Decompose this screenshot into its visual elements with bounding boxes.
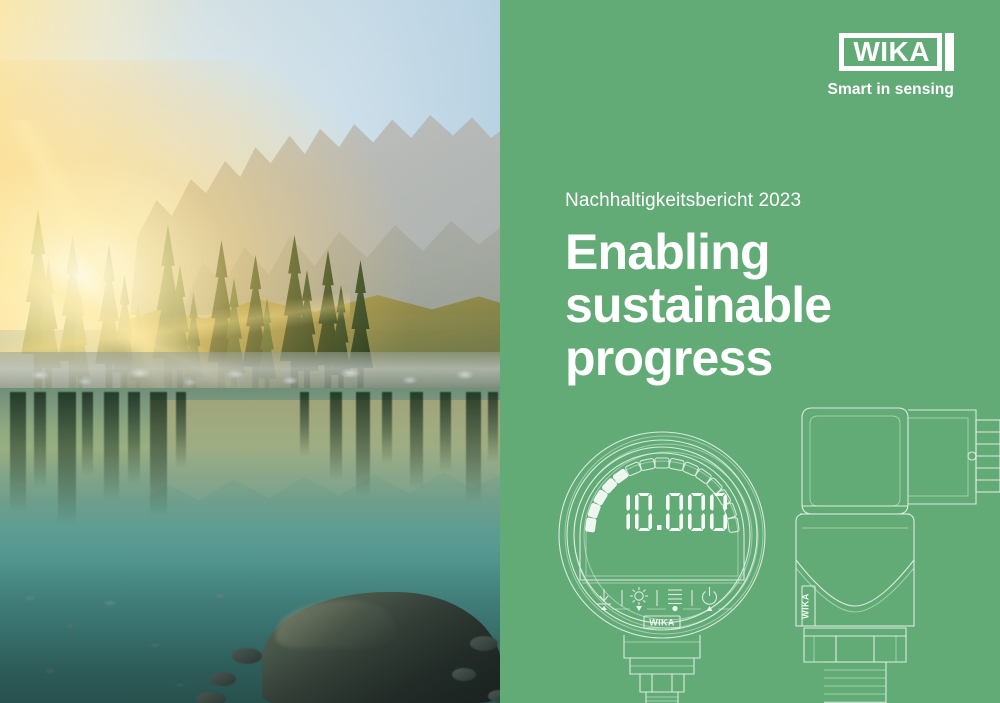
power-icon <box>703 587 717 604</box>
tree-reflection <box>488 392 498 462</box>
bargraph-segment-filled <box>587 502 601 519</box>
lcd-segment-a <box>713 493 725 496</box>
lcd-segment-a <box>691 493 703 496</box>
headline-line-3: progress <box>565 332 831 385</box>
tree-reflection <box>176 392 186 468</box>
lcd-segment-d <box>713 528 725 531</box>
wika-logo: WIKA Smart in sensing <box>828 33 955 99</box>
lcd-segment-d <box>638 528 650 531</box>
tree-reflection <box>382 392 392 464</box>
transmitter-wika-badge: WIKA <box>801 586 816 626</box>
lcd-segment-e <box>635 513 639 530</box>
tree-reflection <box>356 392 370 496</box>
cover-copy: Nachhaltigkeitsbericht 2023 Enabling sus… <box>565 190 831 385</box>
tree-reflection <box>466 392 481 502</box>
lcd-segment-c <box>648 513 652 530</box>
lcd-segment-b <box>626 494 630 511</box>
gauge-stem <box>624 635 700 703</box>
wika-tagline: Smart in sensing <box>828 81 955 99</box>
digital-pressure-gauge-illustration: WIKA <box>552 430 782 703</box>
report-kicker: Nachhaltigkeitsbericht 2023 <box>565 190 831 212</box>
bargraph-segment-empty <box>669 458 685 471</box>
lcd-digit <box>688 493 705 531</box>
tree-reflection <box>330 392 342 480</box>
wika-logo-mark: WIKA <box>828 33 955 71</box>
rock <box>232 648 262 664</box>
rock <box>210 672 236 686</box>
lcd-segment-c <box>679 513 683 530</box>
svg-text:WIKA: WIKA <box>649 618 675 628</box>
tree-reflection <box>300 392 309 456</box>
green-cover-panel: WIKA Smart in sensing Nachhaltigkeitsber… <box>500 0 1000 703</box>
hex-nut <box>804 628 906 662</box>
tree-reflection <box>104 392 119 500</box>
lcd-segment-b <box>679 494 683 511</box>
lcd-segment-e <box>710 513 714 530</box>
lcd-segment-f <box>710 494 714 511</box>
menu-icon <box>668 590 682 604</box>
rock <box>452 668 476 681</box>
headline-line-2: sustainable <box>565 279 831 332</box>
lcd-segment-f <box>666 494 670 511</box>
cover-headline: Enabling sustainable progress <box>565 226 831 385</box>
bargraph-segment-filled <box>585 517 597 532</box>
angled-connector <box>802 408 1000 514</box>
lcd-digit <box>626 494 630 530</box>
housing-body: WIKA <box>796 506 914 626</box>
cable-gland <box>968 420 1000 492</box>
wika-wordmark: WIKA <box>853 38 930 66</box>
gauge-lcd-display <box>626 493 727 531</box>
bargraph-segment-empty <box>655 458 669 468</box>
lcd-segment-b <box>701 494 705 511</box>
pressure-transmitter-illustration: WIKA <box>780 388 1000 703</box>
lcd-decimal-point <box>657 525 662 530</box>
lcd-segment-a <box>669 493 681 496</box>
wika-logo-bar <box>945 33 954 71</box>
lcd-segment-b <box>723 494 727 511</box>
lcd-segment-f <box>688 494 692 511</box>
lcd-segment-c <box>701 513 705 530</box>
bargraph-segment-empty <box>640 458 656 471</box>
report-cover: WIKA Smart in sensing Nachhaltigkeitsber… <box>0 0 1000 703</box>
threaded-process-connection <box>824 662 886 703</box>
lcd-digit <box>666 493 683 531</box>
wika-logo-box: WIKA <box>839 33 942 71</box>
lcd-segment-e <box>688 513 692 530</box>
brightness-icon <box>630 587 648 605</box>
lcd-segment-d <box>691 528 703 531</box>
lcd-digit <box>635 493 652 531</box>
cover-photograph <box>0 0 500 703</box>
lcd-segment-d <box>669 528 681 531</box>
lcd-segment-f <box>635 494 639 511</box>
tree-reflection <box>58 392 76 524</box>
lcd-segment-c <box>723 513 727 530</box>
tree-reflection <box>128 392 140 484</box>
rock <box>470 636 498 651</box>
tree-reflection <box>82 392 93 476</box>
lcd-segment-c <box>626 513 630 530</box>
rock <box>196 692 226 703</box>
tree-reflection <box>34 392 46 488</box>
headline-line-1: Enabling <box>565 226 831 279</box>
tree-reflection <box>440 392 451 472</box>
svg-text:WIKA: WIKA <box>801 593 811 619</box>
lcd-segment-e <box>666 513 670 530</box>
lcd-segment-b <box>648 494 652 511</box>
tree-reflection <box>10 392 26 512</box>
gauge-bezel <box>559 432 765 638</box>
tree-reflection <box>410 392 423 488</box>
tree-reflection <box>150 392 167 516</box>
lcd-segment-a <box>638 493 650 496</box>
gauge-wika-badge: WIKA <box>644 616 680 628</box>
